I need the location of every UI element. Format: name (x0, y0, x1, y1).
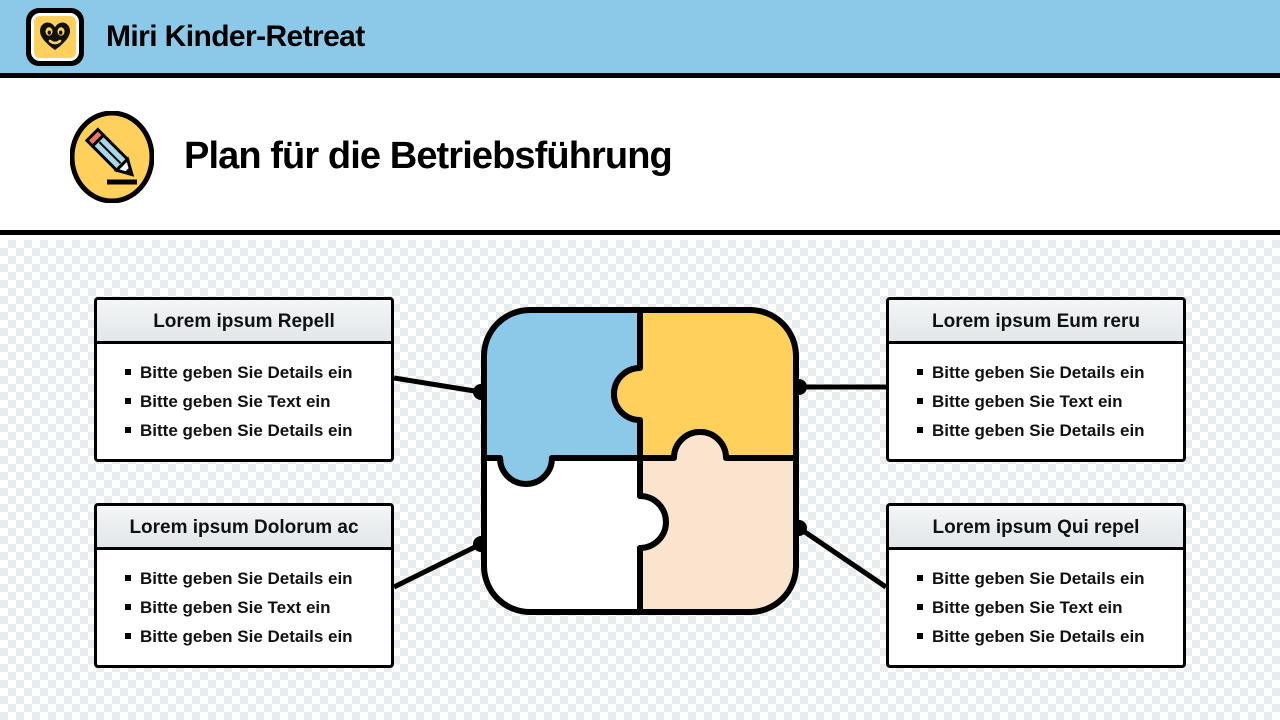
list-item-label: Bitte geben Sie Details ein (932, 416, 1145, 445)
title-band: Plan für die Betriebsführung (0, 83, 1280, 235)
list-item: Bitte geben Sie Details ein (917, 416, 1183, 445)
list-item: Bitte geben Sie Details ein (125, 358, 391, 387)
pencil-circle-icon (70, 111, 154, 203)
heart-face-icon (31, 13, 79, 61)
card-top-right[interactable]: Lorem ipsum Eum reru Bitte geben Sie Det… (886, 297, 1186, 462)
page-title: Plan für die Betriebsführung (184, 135, 672, 178)
bullet-square-icon (917, 369, 923, 375)
card-title: Lorem ipsum Eum reru (889, 300, 1183, 344)
card-title: Lorem ipsum Repell (97, 300, 391, 344)
list-item: Bitte geben Sie Text ein (125, 593, 391, 622)
card-body: Bitte geben Sie Details ein Bitte geben … (97, 550, 391, 665)
list-item: Bitte geben Sie Text ein (917, 593, 1183, 622)
piece-bottom-right[interactable] (640, 432, 796, 612)
bullet-square-icon (917, 604, 923, 610)
card-title: Lorem ipsum Qui repel (889, 506, 1183, 550)
list-item-label: Bitte geben Sie Details ein (140, 622, 353, 651)
bullet-square-icon (917, 575, 923, 581)
list-item: Bitte geben Sie Details ein (125, 622, 391, 651)
connector-bottom-left (394, 544, 481, 587)
list-item-label: Bitte geben Sie Text ein (932, 387, 1123, 416)
list-item-label: Bitte geben Sie Details ein (140, 564, 353, 593)
list-item: Bitte geben Sie Details ein (917, 358, 1183, 387)
list-item-label: Bitte geben Sie Details ein (140, 416, 353, 445)
list-item-label: Bitte geben Sie Details ein (932, 358, 1145, 387)
list-item: Bitte geben Sie Details ein (125, 564, 391, 593)
diagram-canvas: Lorem ipsum Repell Bitte geben Sie Detai… (0, 240, 1280, 720)
list-item-label: Bitte geben Sie Text ein (140, 387, 331, 416)
brand-bar: Miri Kinder-Retreat (0, 0, 1280, 78)
card-body: Bitte geben Sie Details ein Bitte geben … (97, 344, 391, 459)
card-bottom-right[interactable]: Lorem ipsum Qui repel Bitte geben Sie De… (886, 503, 1186, 668)
card-body: Bitte geben Sie Details ein Bitte geben … (889, 550, 1183, 665)
list-item-label: Bitte geben Sie Details ein (140, 358, 353, 387)
list-item: Bitte geben Sie Details ein (125, 416, 391, 445)
bullet-square-icon (125, 398, 131, 404)
card-top-left[interactable]: Lorem ipsum Repell Bitte geben Sie Detai… (94, 297, 394, 462)
bullet-square-icon (125, 427, 131, 433)
card-title: Lorem ipsum Dolorum ac (97, 506, 391, 550)
bullet-square-icon (917, 633, 923, 639)
bullet-square-icon (125, 633, 131, 639)
list-item-label: Bitte geben Sie Text ein (140, 593, 331, 622)
list-item: Bitte geben Sie Text ein (917, 387, 1183, 416)
list-item: Bitte geben Sie Text ein (125, 387, 391, 416)
card-bottom-left[interactable]: Lorem ipsum Dolorum ac Bitte geben Sie D… (94, 503, 394, 668)
puzzle-icon[interactable] (480, 306, 800, 616)
list-item: Bitte geben Sie Details ein (917, 564, 1183, 593)
brand-title: Miri Kinder-Retreat (106, 20, 365, 54)
bullet-square-icon (125, 369, 131, 375)
bullet-square-icon (125, 604, 131, 610)
connector-top-left (394, 378, 481, 392)
bullet-square-icon (917, 427, 923, 433)
list-item-label: Bitte geben Sie Details ein (932, 622, 1145, 651)
card-body: Bitte geben Sie Details ein Bitte geben … (889, 344, 1183, 459)
list-item-label: Bitte geben Sie Text ein (932, 593, 1123, 622)
bullet-square-icon (125, 575, 131, 581)
list-item: Bitte geben Sie Details ein (917, 622, 1183, 651)
brand-logo[interactable] (26, 8, 84, 66)
bullet-square-icon (917, 398, 923, 404)
list-item-label: Bitte geben Sie Details ein (932, 564, 1145, 593)
connector-bottom-right (799, 528, 886, 587)
